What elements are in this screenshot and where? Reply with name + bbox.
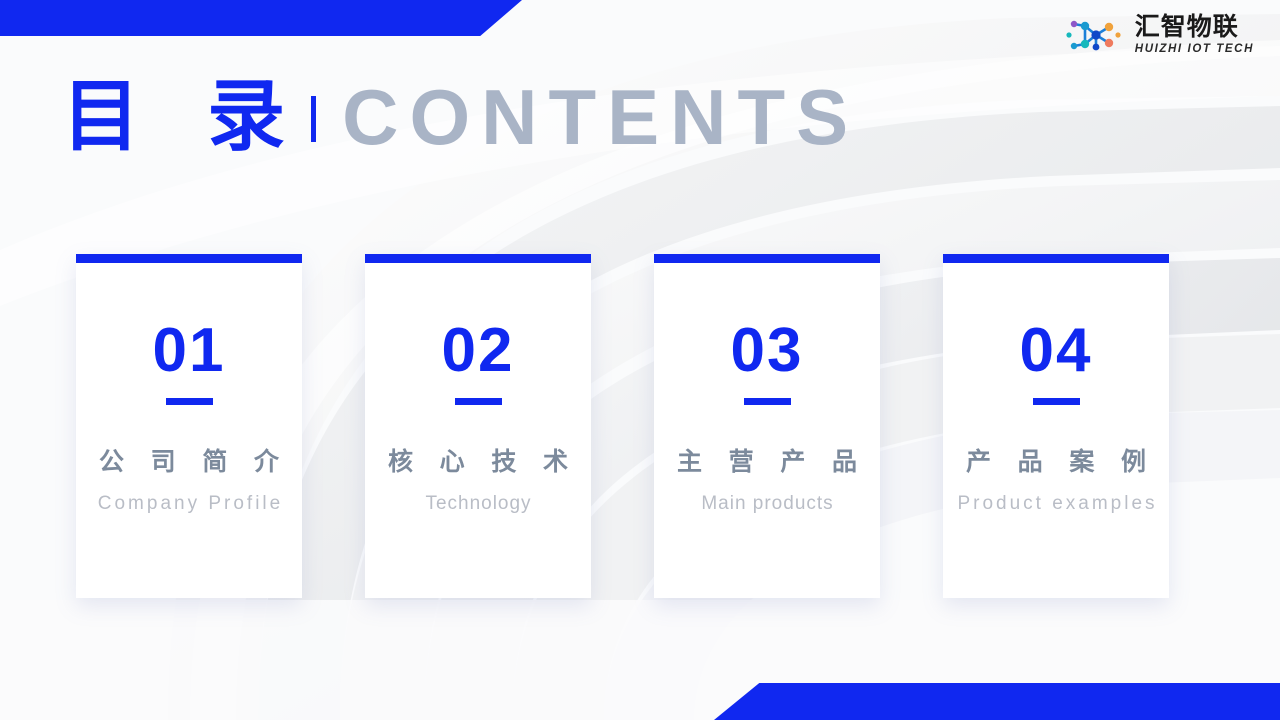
card-number: 02 xyxy=(442,320,515,382)
card-title-cn: 核 心 技 术 xyxy=(379,448,577,476)
contents-card-04[interactable]: 04 产 品 案 例 Product examples xyxy=(943,254,1169,598)
card-accent-bar xyxy=(943,254,1169,263)
card-number: 03 xyxy=(731,320,804,382)
card-title-en: Company Profile xyxy=(95,490,283,519)
top-left-accent-bar xyxy=(0,0,522,36)
contents-card-01[interactable]: 01 公 司 简 介 Company Profile xyxy=(76,254,302,598)
contents-card-02[interactable]: 02 核 心 技 术 Technology xyxy=(365,254,591,598)
page-title-cn: 目 录 xyxy=(62,78,305,156)
card-underline-rule xyxy=(744,398,791,405)
page-title: 目 录 CONTENTS xyxy=(62,78,859,156)
bottom-right-accent-bar xyxy=(714,683,1280,720)
contents-card-03[interactable]: 03 主 营 产 品 Main products xyxy=(654,254,880,598)
title-separator-bar xyxy=(311,96,316,142)
card-accent-bar xyxy=(76,254,302,263)
card-title-en: Technology xyxy=(424,490,531,519)
card-accent-bar xyxy=(654,254,880,263)
molecule-network-icon xyxy=(1065,15,1127,55)
brand-logo: 汇智物联 HUIZHI IOT TECH xyxy=(1065,14,1254,56)
card-title-en: Main products xyxy=(700,490,833,519)
card-title-cn: 产 品 案 例 xyxy=(957,448,1155,476)
card-number: 04 xyxy=(1020,320,1093,382)
card-underline-rule xyxy=(455,398,502,405)
card-title-cn: 主 营 产 品 xyxy=(668,448,866,476)
card-title-cn: 公 司 简 介 xyxy=(90,448,288,476)
page-title-en: CONTENTS xyxy=(342,78,859,156)
card-title-en: Product examples xyxy=(954,490,1157,519)
card-accent-bar xyxy=(365,254,591,263)
brand-name-en: HUIZHI IOT TECH xyxy=(1135,44,1254,56)
card-underline-rule xyxy=(166,398,213,405)
brand-name-cn: 汇智物联 xyxy=(1135,14,1239,39)
contents-card-list: 01 公 司 简 介 Company Profile 02 核 心 技 术 Te… xyxy=(76,254,1169,598)
card-number: 01 xyxy=(153,320,226,382)
card-underline-rule xyxy=(1033,398,1080,405)
slide-contents-page: 汇智物联 HUIZHI IOT TECH 目 录 CONTENTS 01 公 司… xyxy=(0,0,1280,720)
